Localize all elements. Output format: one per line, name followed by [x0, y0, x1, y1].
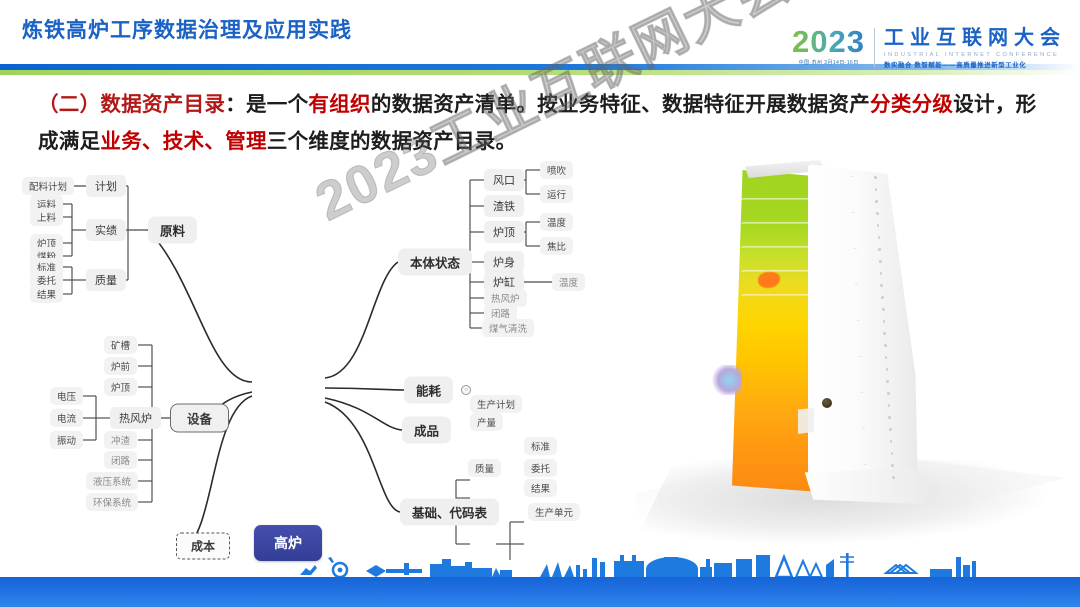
furnace-rivet: [891, 452, 894, 455]
mindmap-leaf-environmental-system[interactable]: 环保系统: [86, 493, 138, 511]
mindmap-leaf-quality-product[interactable]: 质量: [468, 459, 501, 477]
mindmap-leaf-temperature-top[interactable]: 温度: [540, 213, 573, 231]
core-band: [732, 246, 820, 248]
furnace-tick-mark: —: [860, 390, 863, 394]
mindmap-node-furnace-shaft[interactable]: 炉身: [484, 251, 524, 273]
furnace-rivet: [882, 308, 885, 311]
furnace-rivet: [888, 404, 891, 407]
mindmap-leaf-charging[interactable]: 上料: [30, 208, 63, 226]
heading-paragraph: （二）数据资产目录：是一个有组织的数据资产清单。按业务特征、数据特征开展数据资产…: [38, 86, 1048, 160]
logo-name-group: 工业互联网大会 INDUSTRIAL INTERNET CONFERENCE 数…: [884, 26, 1066, 69]
logo-year: 2023: [792, 26, 865, 57]
furnace-tick-mark: —: [863, 462, 866, 466]
heading-run-1: ：是一个: [225, 93, 308, 116]
mindmap-node-finished-product[interactable]: 成品: [402, 417, 451, 444]
mindmap-node-energy-consumption[interactable]: 能耗: [404, 377, 453, 404]
furnace-rivet: [884, 344, 887, 347]
mindmap-leaf-coke-ratio[interactable]: 焦比: [540, 237, 573, 255]
blast-furnace-3d-model: —————————: [636, 150, 1080, 560]
mindmap-node-body-status[interactable]: 本体状态: [398, 249, 472, 276]
mindmap-leaf-temperature-hearth[interactable]: 温度: [552, 273, 585, 291]
furnace-rivet: [878, 248, 881, 251]
page-title: 炼铁高炉工序数据治理及应用实践: [22, 14, 352, 44]
mindmap-leaf-vibration[interactable]: 振动: [50, 431, 83, 449]
furnace-rivet: [875, 200, 878, 203]
mindmap-leaf-closed-circuit-eq[interactable]: 闭路: [104, 451, 137, 469]
furnace-rivet: [891, 464, 894, 467]
mindmap-leaf-cast-house[interactable]: 炉前: [104, 357, 137, 375]
furnace-tap-hole: [822, 398, 832, 408]
mindmap-leaf-injection[interactable]: 喷吹: [540, 161, 573, 179]
mindmap-node-slag-iron[interactable]: 渣铁: [484, 195, 524, 217]
logo-divider: [874, 28, 875, 67]
mindmap-leaf-hydraulic-system[interactable]: 液压系统: [86, 472, 138, 490]
furnace-rivet: [880, 272, 883, 275]
furnace-rivet: [876, 212, 879, 215]
furnace-rivet: [879, 260, 882, 263]
furnace-rivet: [888, 416, 891, 419]
mindmap-leaf-voltage[interactable]: 电压: [50, 387, 83, 405]
mindmap-leaf-standard-product[interactable]: 标准: [524, 437, 557, 455]
collapse-toggle-icon[interactable]: ○: [461, 385, 471, 395]
mindmap-node-quality-raw[interactable]: 质量: [86, 269, 126, 291]
mindmap-leaf-result-raw[interactable]: 结果: [30, 285, 63, 303]
core-band: [732, 294, 820, 296]
mindmap-leaf-commission-product[interactable]: 委托: [524, 459, 557, 477]
logo-slogan: 数实融合 数智赋能——高质量推进新型工业化: [884, 60, 1066, 69]
furnace-rivet: [880, 284, 883, 287]
furnace-rivet: [886, 368, 889, 371]
furnace-tick-mark: —: [855, 282, 858, 286]
core-band: [732, 198, 820, 200]
heading-run-6: 业务、技术、管理: [100, 130, 266, 153]
logo-name-en: INDUSTRIAL INTERNET CONFERENCE: [884, 52, 1066, 58]
furnace-rivet: [878, 236, 881, 239]
mindmap-node-actual[interactable]: 实绩: [86, 219, 126, 241]
furnace-inspection-window: [798, 408, 814, 434]
heading-run-2: 有组织: [308, 93, 370, 116]
mindmap-leaf-gas-cleaning[interactable]: 煤气清洗: [482, 319, 534, 337]
mindmap-leaf-current[interactable]: 电流: [50, 409, 83, 427]
tuyere-jet: [710, 365, 742, 395]
mindmap-leaf-slag-flushing[interactable]: 冲渣: [104, 431, 137, 449]
heading-run-4: 分类分级: [870, 93, 953, 116]
logo-year-group: 2023 中国·苏州 3月14日-16日: [792, 26, 874, 66]
mindmap-leaf-production-unit[interactable]: 生产单元: [528, 503, 580, 521]
mindmap-node-plan[interactable]: 计划: [86, 175, 126, 197]
furnace-tick-mark: —: [852, 210, 855, 214]
furnace-rivet: [887, 392, 890, 395]
furnace-tick-mark: —: [858, 354, 861, 358]
furnace-rivet: [883, 320, 886, 323]
furnace-rivet: [874, 176, 877, 179]
mindmap-node-raw-material[interactable]: 原料: [148, 217, 197, 244]
furnace-rivet: [875, 188, 878, 191]
conference-logo: 2023 中国·苏州 3月14日-16日 工业互联网大会 INDUSTRIAL …: [792, 26, 1066, 69]
mindmap-leaf-output[interactable]: 产量: [470, 413, 503, 431]
furnace-rivet: [881, 296, 884, 299]
core-band: [732, 222, 820, 224]
furnace-rivet: [886, 380, 889, 383]
mindmap-node-equipment[interactable]: 设备: [170, 404, 229, 433]
footer-decoration: [0, 555, 1080, 607]
mindmap-node-furnace-top-status[interactable]: 炉顶: [484, 221, 524, 243]
header-divider-green: [0, 70, 1080, 75]
mindmap-node-hot-blast-stove[interactable]: 热风炉: [110, 407, 161, 429]
furnace-temperature-core: [732, 170, 820, 492]
furnace-tick-mark: —: [853, 246, 856, 250]
mindmap-leaf-production-plan[interactable]: 生产计划: [470, 395, 522, 413]
logo-name-cn: 工业互联网大会: [884, 28, 1066, 49]
mindmap-leaf-furnace-top-eq[interactable]: 炉顶: [104, 378, 137, 396]
mindmap-node-basic-code-table[interactable]: 基础、代码表: [400, 499, 499, 526]
logo-date: 中国·苏州 3月14日-16日: [792, 59, 865, 66]
mindmap-leaf-ore-bin[interactable]: 矿槽: [104, 336, 137, 354]
furnace-rivet: [883, 332, 886, 335]
data-asset-catalog-mindmap: 高炉 原料 计划 配料计划 实绩 运料 上料 炉顶 煤粉 质量 标准 委托 结果…: [0, 160, 660, 560]
furnace-tick-mark: —: [857, 318, 860, 322]
core-band: [732, 270, 820, 272]
furnace-outer-shell: [808, 164, 936, 494]
mindmap-leaf-operation[interactable]: 运行: [540, 185, 573, 203]
furnace-rivet: [892, 476, 895, 479]
mindmap-leaf-result-product[interactable]: 结果: [524, 479, 557, 497]
heading-run-7: 三个维度的数据资产目录。: [267, 130, 517, 153]
furnace-tick-mark: —: [850, 174, 853, 178]
footer-blue-band: [0, 577, 1080, 607]
heading-run-0: （二）数据资产目录: [38, 93, 225, 116]
heading-run-3: 的数据资产清单。按业务特征、数据特征开展数据资产: [371, 93, 870, 116]
mindmap-leaf-batching-plan[interactable]: 配料计划: [22, 177, 74, 195]
furnace-rivet: [889, 428, 892, 431]
mindmap-node-tuyere[interactable]: 风口: [484, 169, 524, 191]
furnace-tick-mark: —: [862, 426, 865, 430]
